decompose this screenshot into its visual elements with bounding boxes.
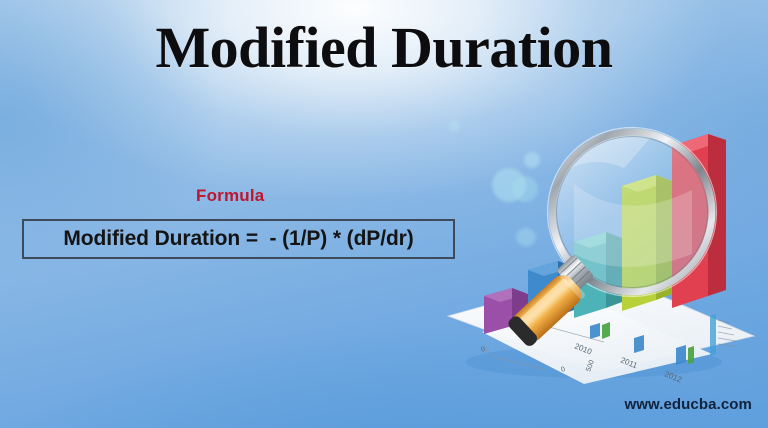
page-title: Modified Duration — [0, 16, 768, 81]
paper-zero-label: 0 — [480, 346, 486, 354]
illustration-magnifier-bar-chart: 0 0 2009 2010 2011 2012 0 500 — [424, 104, 764, 389]
formula-box: Modified Duration = - (1/P) * (dP/dr) — [22, 219, 455, 259]
formula-label: Formula — [196, 186, 264, 206]
formula-expression: Modified Duration = - (1/P) * (dP/dr) — [63, 227, 413, 251]
slide-canvas: Modified Duration Formula Modified Durat… — [0, 0, 768, 428]
watermark-url: www.educba.com — [624, 396, 752, 413]
